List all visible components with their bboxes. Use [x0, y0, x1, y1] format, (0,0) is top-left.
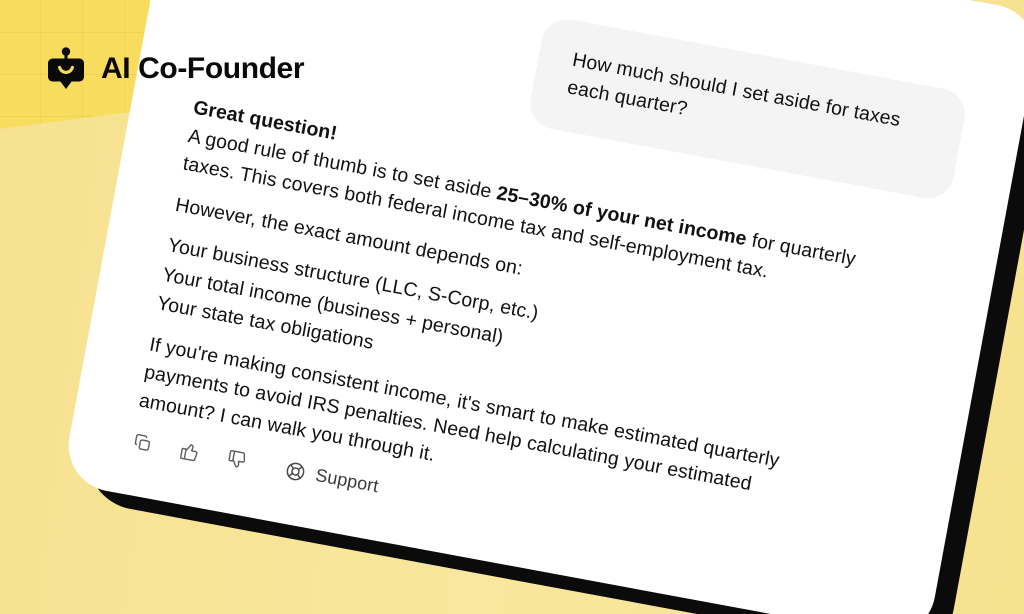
copy-icon: [131, 431, 154, 454]
thumbs-down-button[interactable]: [224, 448, 250, 474]
lifebuoy-icon: [283, 459, 307, 483]
thumbs-up-icon: [178, 440, 201, 463]
brand-name-label: AI Co-Founder: [101, 52, 304, 86]
copy-button[interactable]: [130, 430, 156, 456]
screenshot-stage: How much should I set aside for taxes ea…: [0, 0, 1024, 614]
thumbs-up-button[interactable]: [177, 439, 203, 465]
support-label: Support: [313, 462, 380, 499]
robot-bot-icon: [46, 47, 86, 91]
thumbs-down-icon: [225, 449, 248, 472]
support-button[interactable]: Support: [283, 456, 381, 499]
brand-logo[interactable]: AI Co-Founder: [46, 47, 304, 91]
